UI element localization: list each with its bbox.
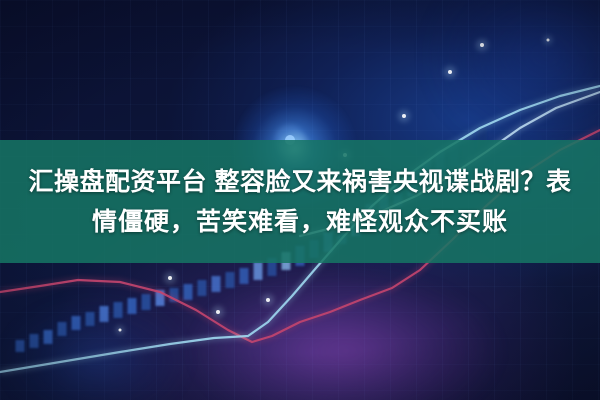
candle-body [198,280,207,296]
spark-halo [212,306,224,318]
candle-body [30,334,39,348]
spark-dot [119,329,122,332]
candle-body [100,306,109,322]
spark-dot [216,310,220,314]
glow-purple-bottom [196,276,496,400]
candle-body [128,298,137,314]
candle-body [254,262,263,280]
spark-dot [266,298,270,302]
candle-body [72,316,81,330]
headline-line-1: 汇操盘配资平台 整容脸又来祸害央视谍战剧？表 [23,162,578,202]
candle-body [58,322,67,336]
candle-body [142,294,151,310]
spark-halo [444,66,456,78]
candle-body [86,312,95,326]
spark-dot [448,70,452,74]
candle-body [114,302,123,318]
spark-halo [164,272,176,284]
spark-dot [480,43,484,47]
headline-line-2: 情僵硬，苦笑难看，难怪观众不买账 [86,202,514,242]
spark-dot [402,114,406,118]
spark-dot [168,276,172,280]
candle-body [184,284,193,300]
spark-dot [547,39,550,42]
candle-body [212,276,221,292]
candle-body [170,288,179,302]
glow-blue-left [6,300,186,400]
spark-halo [398,110,410,122]
spark-halo [476,39,488,51]
thumbnail-canvas: 汇操盘配资平台 整容脸又来祸害央视谍战剧？表 情僵硬，苦笑难看，难怪观众不买账 [0,0,600,400]
spark-halo [116,326,125,335]
candle-body [16,340,25,352]
candle-body [240,268,249,284]
candle-body [44,330,53,344]
spark-halo [262,294,274,306]
candle-body [156,290,165,306]
candle-body [226,272,235,288]
glow-top-right [430,0,600,150]
headline-banner: 汇操盘配资平台 整容脸又来祸害央视谍战剧？表 情僵硬，苦笑难看，难怪观众不买账 [0,140,600,263]
spark-halo [544,36,553,45]
